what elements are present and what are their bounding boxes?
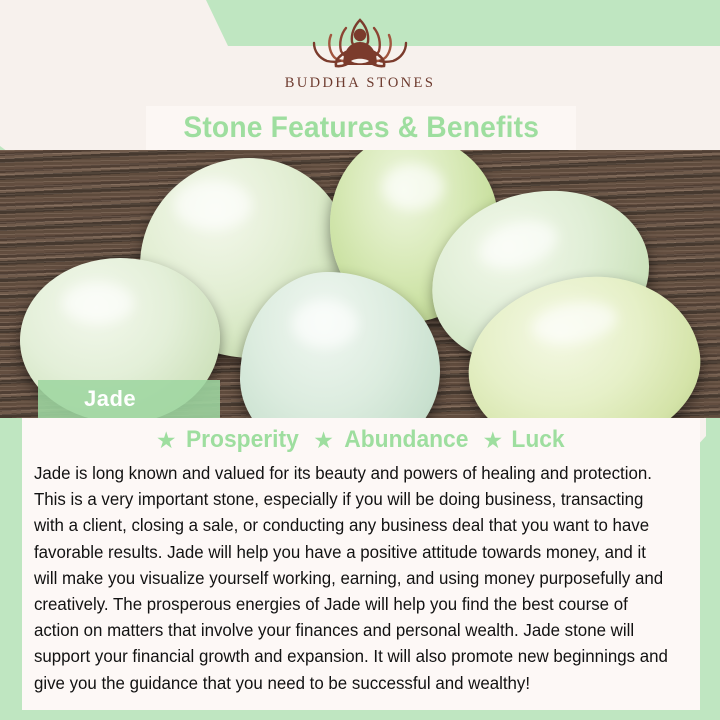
page-title: Stone Features & Benefits xyxy=(183,111,539,145)
benefit-label: Luck xyxy=(512,426,565,454)
jade-stones-photo xyxy=(0,150,720,418)
benefit-label: Abundance xyxy=(344,426,468,454)
benefit-item-abundance: ★ Abundance xyxy=(313,426,471,454)
brand-header: BUDDHA STONES xyxy=(0,0,720,112)
benefit-label: Prosperity xyxy=(186,426,299,454)
stone-description-card: ★ Prosperity ★ Abundance ★ Luck Jade is … xyxy=(22,418,700,710)
benefit-item-luck: ★ Luck xyxy=(483,426,567,454)
lotus-meditation-icon xyxy=(296,12,424,74)
photo-caption-text: Jade xyxy=(84,386,136,412)
description-paragraph: Jade is long known and valued for its be… xyxy=(32,460,670,696)
benefit-item-prosperity: ★ Prosperity xyxy=(156,426,302,454)
star-icon: ★ xyxy=(313,429,334,452)
benefits-row: ★ Prosperity ★ Abundance ★ Luck xyxy=(32,420,690,460)
star-icon: ★ xyxy=(156,429,177,452)
infographic-page: BUDDHA STONES Stone Features & Benefits … xyxy=(0,0,720,720)
brand-wordmark: BUDDHA STONES xyxy=(285,75,436,92)
title-banner: Stone Features & Benefits xyxy=(146,106,576,150)
photo-caption-banner: Jade xyxy=(38,380,220,418)
star-icon: ★ xyxy=(483,429,504,452)
